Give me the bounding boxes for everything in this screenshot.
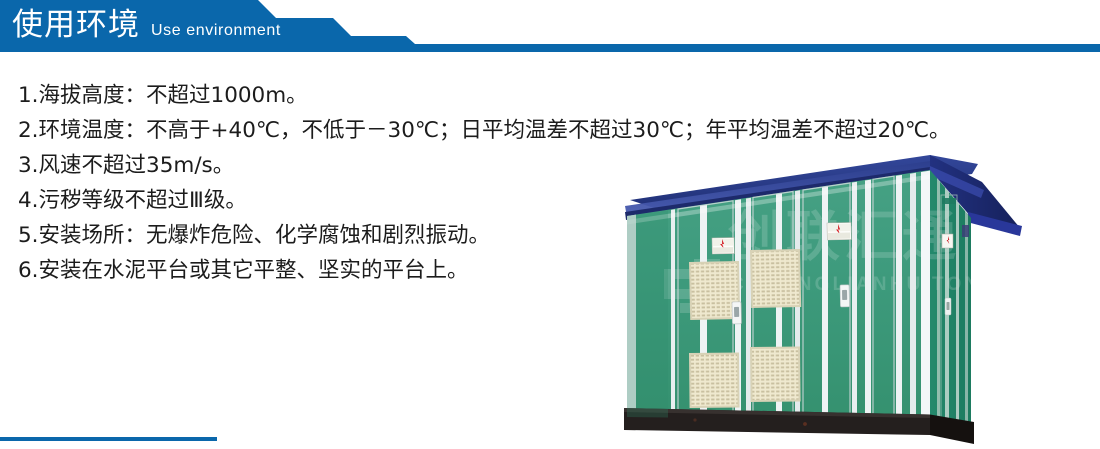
page-title-chinese: 使用环境 xyxy=(12,6,140,44)
substation-illustration: 创联汇通 CHUANGLIANHUITONG 创联汇通 CHUANGLIANHU… xyxy=(600,150,1100,449)
end-nameplate xyxy=(962,225,969,237)
front-left-panel-shade xyxy=(627,210,668,418)
warning-label-end xyxy=(942,234,953,248)
louver-panel-4 xyxy=(750,346,801,402)
louver-panel-2 xyxy=(750,249,801,308)
spec-item-1: 1.海拔高度：不超过1000m。 xyxy=(18,78,1093,113)
product-image-substation: 创联汇通 CHUANGLIANHUITONG 创联汇通 CHUANGLIANHU… xyxy=(600,150,1100,449)
page-title-english: Use environment xyxy=(151,21,281,41)
page-header: 使用环境 Use environment xyxy=(0,0,1100,53)
bottom-divider-rule xyxy=(0,437,217,441)
plinth-bolt-1 xyxy=(693,418,696,421)
warning-label-right xyxy=(827,222,851,239)
plinth-bolt-2 xyxy=(803,422,807,426)
spec-item-2: 2.环境温度：不高于+40℃，不低于－30℃；日平均温差不超过30℃；年平均温差… xyxy=(18,113,1093,148)
header-title-group: 使用环境 Use environment xyxy=(12,6,281,44)
warning-label-left xyxy=(712,238,734,254)
louver-panel-3 xyxy=(689,352,740,408)
